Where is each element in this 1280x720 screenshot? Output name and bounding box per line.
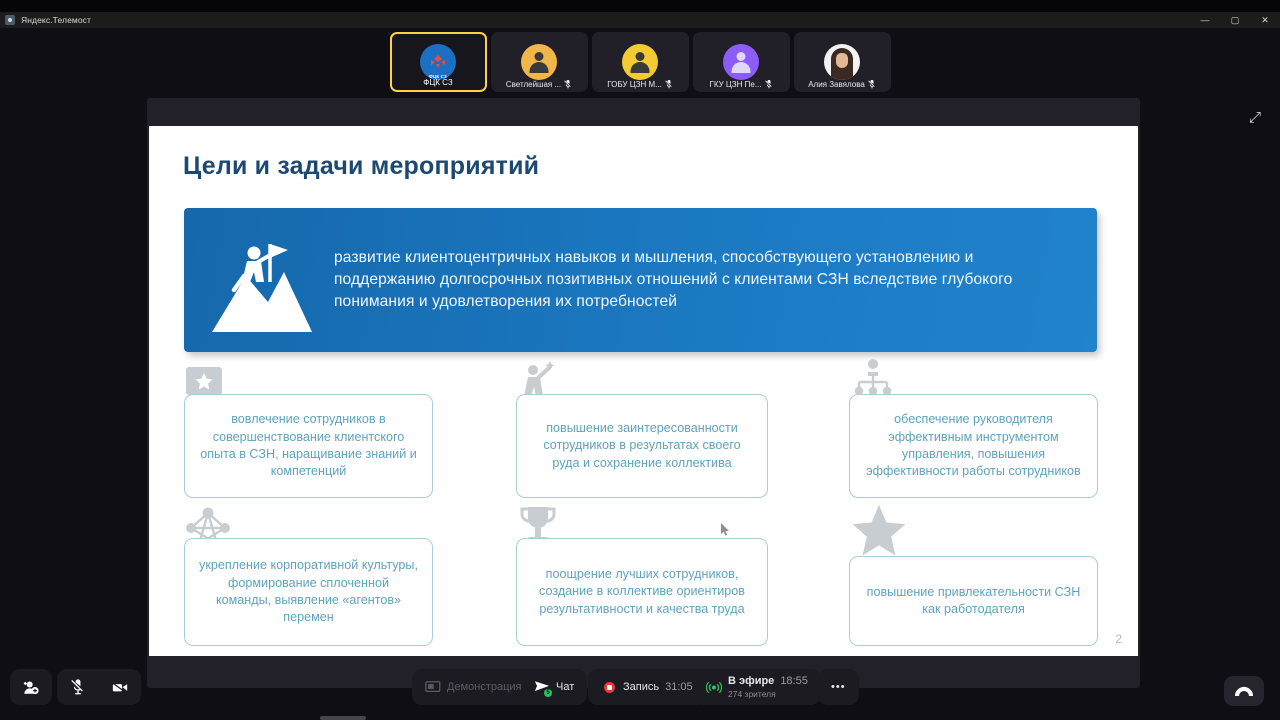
goal-card-text: повышение привлекательности СЗН как рабо… [864,584,1083,619]
participant-tile-gku[interactable]: ГКУ ЦЗН Пе... [693,32,790,92]
live-status-button[interactable]: В эфире 18:55 274 зрителя [693,669,821,705]
banner-text: развитие клиентоцентричных навыков и мыш… [334,247,1097,314]
participant-tile-gobu[interactable]: ГОБУ ЦЗН М... [592,32,689,92]
add-person-icon [23,679,39,695]
mic-off-icon [564,80,572,89]
photo-avatar [824,44,860,80]
mic-off-icon [665,80,673,89]
avatar [521,44,557,80]
avatar-head [737,52,746,61]
record-button[interactable]: Запись 31:05 [588,669,706,705]
record-group: Запись 31:05 [588,669,706,705]
more-options-group: ••• [818,669,859,705]
participant-name: Светлейшая ... [491,80,588,89]
share-screen-button[interactable]: Демонстрация [412,669,535,705]
avatar [622,44,658,80]
chat-send-icon: 5 [534,679,550,695]
avatar: ФЦК СЗ [420,44,456,80]
live-label: В эфире [728,675,774,688]
avatar [723,44,759,80]
goal-card: укрепление корпоративной культуры, форми… [184,538,433,646]
record-time: 31:05 [665,681,693,693]
slide-banner: развитие клиентоцентричных навыков и мыш… [184,208,1097,352]
app-window: ФЦК СЗ ФЦК СЗ Светлейшая ... [0,28,1280,720]
participant-name-text: Алия Завялова [808,80,865,89]
avatar [824,44,860,80]
goal-card-text: поощрение лучших сотрудников, создание в… [531,566,753,618]
org-logo-avatar-icon: ФЦК СЗ [420,44,456,80]
add-person-button[interactable] [10,669,52,705]
avatar-body [631,62,650,73]
goal-card: повышение привлекательности СЗН как рабо… [849,556,1098,646]
mic-off-icon [868,80,876,89]
presentation-stage[interactable]: Цели и задачи мероприятий развитие клиен… [147,98,1140,688]
goal-card: вовлечение сотрудников в совершенствован… [184,394,433,498]
share-screen-group: Демонстрация [412,669,535,705]
participant-tile-aliya[interactable]: Алия Завялова [794,32,891,92]
participant-name-text: ГКУ ЦЗН Пе... [709,80,761,89]
participant-name: ГКУ ЦЗН Пе... [693,80,790,89]
record-label: Запись [623,681,659,693]
goal-card: повышение заинтересованности сотрудников… [516,394,768,498]
window-controls[interactable]: — ▢ ✕ [1190,12,1280,28]
app-logo-icon [5,15,15,25]
star-icon [851,504,907,561]
participant-tile-svetleyshaya[interactable]: Светлейшая ... [491,32,588,92]
meeting-toolbar: Демонстрация 5 Чат Запись 31:05 [0,664,1280,710]
slide: Цели и задачи мероприятий развитие клиен… [149,126,1138,656]
avatar-head [535,52,544,61]
chat-badge: 5 [544,689,552,697]
person-avatar-icon [521,44,557,80]
slide-page-number: 2 [1115,632,1122,646]
horizontal-scrollbar-thumb[interactable] [320,716,366,720]
camera-toggle-button[interactable] [99,669,141,705]
window-titlebar: Яндекс.Телемост — ▢ ✕ [0,12,1280,28]
avatar-head [636,52,645,61]
chat-group: 5 Чат [521,669,587,705]
live-group: В эфире 18:55 274 зрителя [693,669,821,705]
participant-name: ФЦК СЗ [392,78,485,87]
add-person-group [10,669,52,705]
close-button[interactable]: ✕ [1250,12,1280,28]
slide-title: Цели и задачи мероприятий [183,152,539,181]
av-controls-group [57,669,141,705]
participant-name: ГОБУ ЦЗН М... [592,80,689,89]
avatar-body [530,62,549,73]
participant-name-text: ФЦК СЗ [423,78,452,87]
viewers-count: 274 зрителя [728,689,808,699]
share-screen-label: Демонстрация [447,681,522,693]
camera-off-icon [112,679,128,695]
broadcast-icon [706,679,722,695]
participant-name-text: Светлейшая ... [506,80,561,89]
record-icon [601,679,617,695]
participant-name-text: ГОБУ ЦЗН М... [607,80,662,89]
participant-strip: ФЦК СЗ ФЦК СЗ Светлейшая ... [0,28,1280,96]
maximize-button[interactable]: ▢ [1220,12,1250,28]
goal-card-text: повышение заинтересованности сотрудников… [531,420,753,472]
hangup-icon [1234,685,1254,697]
climber-flag-icon [184,220,334,340]
avatar-body [732,62,751,73]
mouse-cursor [721,523,731,537]
live-time: 18:55 [780,675,808,688]
person-avatar-icon [622,44,658,80]
mic-toggle-button[interactable] [57,669,99,705]
chat-label: Чат [556,681,574,693]
avatar-face [836,53,848,68]
more-options-button[interactable]: ••• [818,669,859,705]
participant-name: Алия Завялова [794,80,891,89]
expand-icon[interactable]: ⤢ [1244,106,1266,128]
petals-icon [426,52,450,72]
minimize-button[interactable]: — [1190,12,1220,28]
window-title: Яндекс.Телемост [21,15,91,25]
goal-card: поощрение лучших сотрудников, создание в… [516,538,768,646]
goal-card: обеспечение руководителя эффективным инс… [849,394,1098,498]
person-avatar-icon [723,44,759,80]
goal-card-text: укрепление корпоративной культуры, форми… [199,557,418,626]
hangup-button[interactable] [1224,676,1264,706]
mic-off-icon [765,80,773,89]
goal-card-text: вовлечение сотрудников в совершенствован… [199,411,418,480]
mic-off-icon [70,679,86,695]
goal-card-text: обеспечение руководителя эффективным инс… [864,411,1083,480]
participant-tile-fck-sz[interactable]: ФЦК СЗ ФЦК СЗ [390,32,487,92]
screen-share-icon [425,679,441,695]
chat-button[interactable]: 5 Чат [521,669,587,705]
